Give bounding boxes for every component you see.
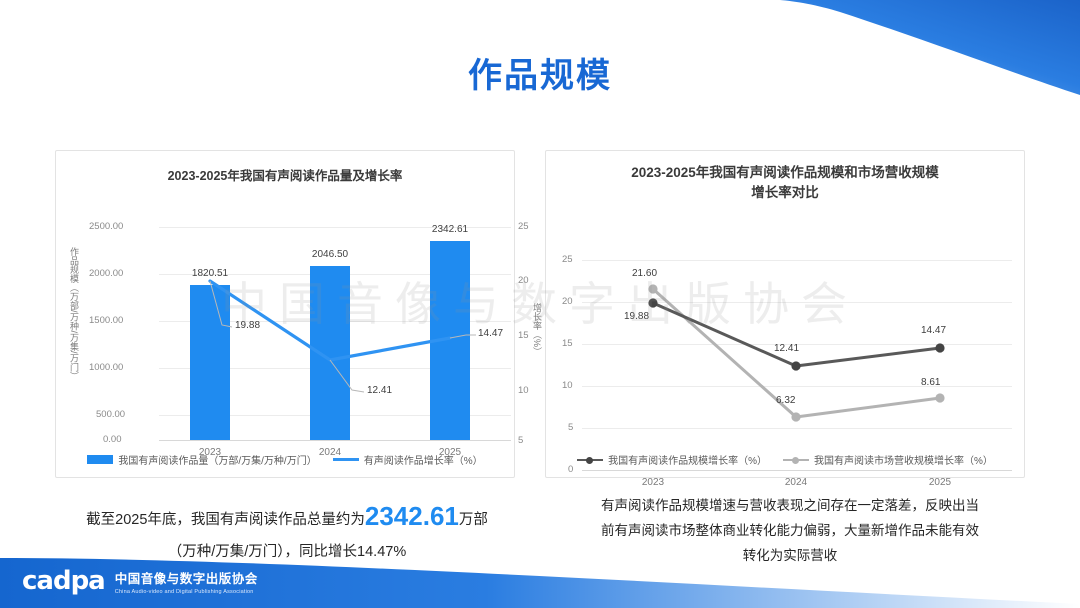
footer-org-en: China Audio-video and Digital Publishing… xyxy=(115,589,258,595)
legend-item-series1[interactable]: 我国有声阅读作品规模增长率（%） xyxy=(577,452,767,467)
slide-root: 作品规模 2023-2025年我国有声阅读作品量及增长率 2500.00 200… xyxy=(0,0,1080,608)
y2-tick: 25 xyxy=(518,221,529,232)
series1-value-label: 12.41 xyxy=(774,343,799,354)
caption-left-part2: 万部 xyxy=(459,512,488,528)
legend-label: 我国有声阅读作品规模增长率（%） xyxy=(608,452,767,467)
line-value-label: 12.41 xyxy=(367,385,392,396)
legend-swatch-line-icon xyxy=(333,458,359,461)
right-chart-title-line1: 2023-2025年我国有声阅读作品规模和市场营收规模 xyxy=(546,163,1024,183)
caption-left-highlight: 2342.61 xyxy=(365,501,459,531)
legend-swatch-bar-icon xyxy=(87,455,113,464)
chart-card-right: 2023-2025年我国有声阅读作品规模和市场营收规模 增长率对比 25 20 … xyxy=(545,150,1025,478)
legend-swatch-dark-line-icon xyxy=(577,455,603,465)
legend-swatch-gray-line-icon xyxy=(783,455,809,465)
caption-left-line2: （万种/万集/万门），同比增长14.47% xyxy=(52,540,522,565)
page-title: 作品规模 xyxy=(0,48,1080,97)
right-plot-area: 25 20 15 10 5 0 21.60 6.32 8.61 xyxy=(546,202,1024,460)
chart-card-left: 2023-2025年我国有声阅读作品量及增长率 2500.00 2000.00 … xyxy=(55,150,515,478)
series1-value-label: 19.88 xyxy=(624,311,649,322)
caption-right: 有声阅读作品规模增速与营收表现之间存在一定落差，反映出当 前有声阅读市场整体商业… xyxy=(545,494,1035,569)
growth-line-svg xyxy=(56,185,516,455)
line-value-label: 19.88 xyxy=(235,320,260,331)
y2-tick: 15 xyxy=(518,330,529,341)
legend-item-series2[interactable]: 我国有声阅读市场营收规模增长率（%） xyxy=(783,452,993,467)
series2-value-label: 6.32 xyxy=(776,395,795,406)
series2-value-label: 8.61 xyxy=(921,377,940,388)
legend-label: 我国有声阅读作品量（万部/万集/万种/万门） xyxy=(118,452,316,467)
y2-tick: 5 xyxy=(518,435,523,446)
axis-baseline xyxy=(582,470,1012,471)
x-tick-2025: 2025 xyxy=(900,477,980,488)
caption-right-line1: 有声阅读作品规模增速与营收表现之间存在一定落差，反映出当 xyxy=(545,494,1035,519)
right-chart-title-line2: 增长率对比 xyxy=(546,183,1024,203)
caption-left-line1: 截至2025年底，我国有声阅读作品总量约为2342.61万部 xyxy=(52,494,522,540)
right-chart-legend: 我国有声阅读作品规模增长率（%） 我国有声阅读市场营收规模增长率（%） xyxy=(546,452,1024,467)
footer-org-block: 中国音像与数字出版协会 China Audio-video and Digita… xyxy=(115,568,258,595)
series1-value-label: 14.47 xyxy=(921,325,946,336)
legend-label: 我国有声阅读市场营收规模增长率（%） xyxy=(814,452,993,467)
y2-axis-title: 增长率（%） xyxy=(531,303,544,356)
line-value-label: 14.47 xyxy=(478,328,503,339)
legend-item-line[interactable]: 有声阅读作品增长率（%） xyxy=(333,452,483,467)
footer-org-cn: 中国音像与数字出版协会 xyxy=(115,568,258,587)
x-tick-2023: 2023 xyxy=(613,477,693,488)
legend-item-bar[interactable]: 我国有声阅读作品量（万部/万集/万种/万门） xyxy=(87,452,316,467)
footer-logo: cadpa 中国音像与数字出版协会 China Audio-video and … xyxy=(22,566,258,596)
left-chart-legend: 我国有声阅读作品量（万部/万集/万种/万门） 有声阅读作品增长率（%） xyxy=(56,452,514,467)
right-chart-title: 2023-2025年我国有声阅读作品规模和市场营收规模 增长率对比 xyxy=(546,151,1024,202)
legend-label: 有声阅读作品增长率（%） xyxy=(364,452,483,467)
caption-left-part1: 截至2025年底，我国有声阅读作品总量约为 xyxy=(86,512,365,528)
caption-right-line2: 前有声阅读市场整体商业转化能力偏弱，大量新增作品未能有效 xyxy=(545,519,1035,544)
series2-value-label: 21.60 xyxy=(632,268,657,279)
caption-right-line3: 转化为实际营收 xyxy=(545,544,1035,569)
caption-left: 截至2025年底，我国有声阅读作品总量约为2342.61万部 （万种/万集/万门… xyxy=(52,494,522,565)
x-tick-2024: 2024 xyxy=(756,477,836,488)
y2-tick: 20 xyxy=(518,275,529,286)
left-chart-title: 2023-2025年我国有声阅读作品量及增长率 xyxy=(56,151,514,185)
left-plot-area: 2500.00 2000.00 1500.00 1000.00 500.00 0… xyxy=(56,185,514,455)
right-lines-svg xyxy=(546,202,1026,460)
y2-tick: 10 xyxy=(518,385,529,396)
cadpa-logo-wordmark: cadpa xyxy=(22,566,105,596)
